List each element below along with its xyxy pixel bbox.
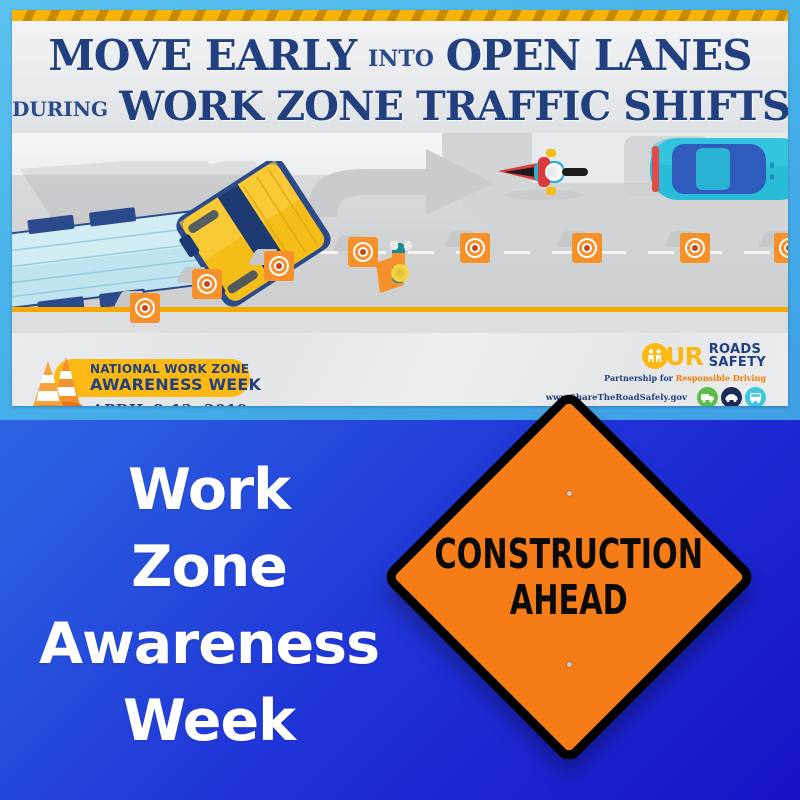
sign-screw-bottom [567,662,572,667]
hazard-stripe [12,10,788,21]
headline-into: INTO [368,46,434,72]
nwzaw-pill-text: NATIONAL WORK ZONE AWARENESS WEEK [90,362,260,393]
title-line-2: Zone [14,529,404,606]
sedan-car-illustration [624,134,788,206]
headline-during: DURING [12,97,108,121]
nwzaw-line-1: NATIONAL WORK ZONE [90,362,260,376]
headline-move-early: MOVE EARLY [48,31,356,80]
poster-footer: NATIONAL WORK ZONE AWARENESS WEEK APRIL … [12,333,788,406]
semi-truck-illustration [12,161,362,311]
roads-safety-text: ROADS SAFETY [709,343,766,369]
safety-word: SAFETY [709,356,766,369]
awareness-poster: MOVE EARLY INTO OPEN LANES DURING WORK Z… [0,0,800,420]
title-line-1: Work [14,452,404,529]
sign-text-layer: CONSTRUCTION AHEAD [436,444,702,710]
motorcycle-illustration [492,143,602,201]
headline-open-lanes: OPEN LANES [446,31,752,80]
traffic-cone [348,237,378,267]
title-line-4: Week [14,683,404,760]
traffic-cone [192,269,222,299]
ours-logo-top: UR ROADS SAFETY [642,343,766,369]
sign-line-1: CONSTRUCTION [435,531,704,577]
traffic-cones-logo-icon [26,351,100,406]
sign-screw-top [567,491,572,496]
traffic-cone [130,293,160,323]
poster-canvas: MOVE EARLY INTO OPEN LANES DURING WORK Z… [12,10,788,406]
nwzaw-dates: APRIL 8-12, 2019 [92,401,248,406]
sign-line-2: AHEAD [435,577,704,623]
bus-icon [745,387,766,406]
traffic-cone [680,233,710,263]
tagline-highlight: Responsible Driving [676,373,766,383]
traffic-cone [460,233,490,263]
our-roads-safety-logo: UR ROADS SAFETY Partnership for Responsi… [586,343,766,406]
traffic-cone [774,233,788,263]
tagline-prefix: Partnership for [604,373,676,383]
truck-icon [697,387,718,406]
nwzaw-line-2: AWARENESS WEEK [90,376,260,393]
headline-work-zone-traffic-shifts: WORK ZONE TRAFFIC SHIFTS [119,83,788,130]
road-scene-illustration [12,133,788,333]
traffic-cone [572,233,602,263]
sponsor-tagline: Partnership for Responsible Driving [604,373,766,383]
sign-text: CONSTRUCTION AHEAD [435,531,704,623]
our-wordmark: UR [642,343,703,369]
ur-text: UR [665,344,703,369]
road-shoulder [12,312,788,333]
traffic-cone [264,251,294,281]
bottom-title: Work Zone Awareness Week [14,452,404,760]
car-icon [721,387,742,406]
title-line-3: Awareness [14,606,404,683]
construction-sign: CONSTRUCTION AHEAD [408,428,780,794]
poster-headline: MOVE EARLY INTO OPEN LANES DURING WORK Z… [12,21,788,133]
